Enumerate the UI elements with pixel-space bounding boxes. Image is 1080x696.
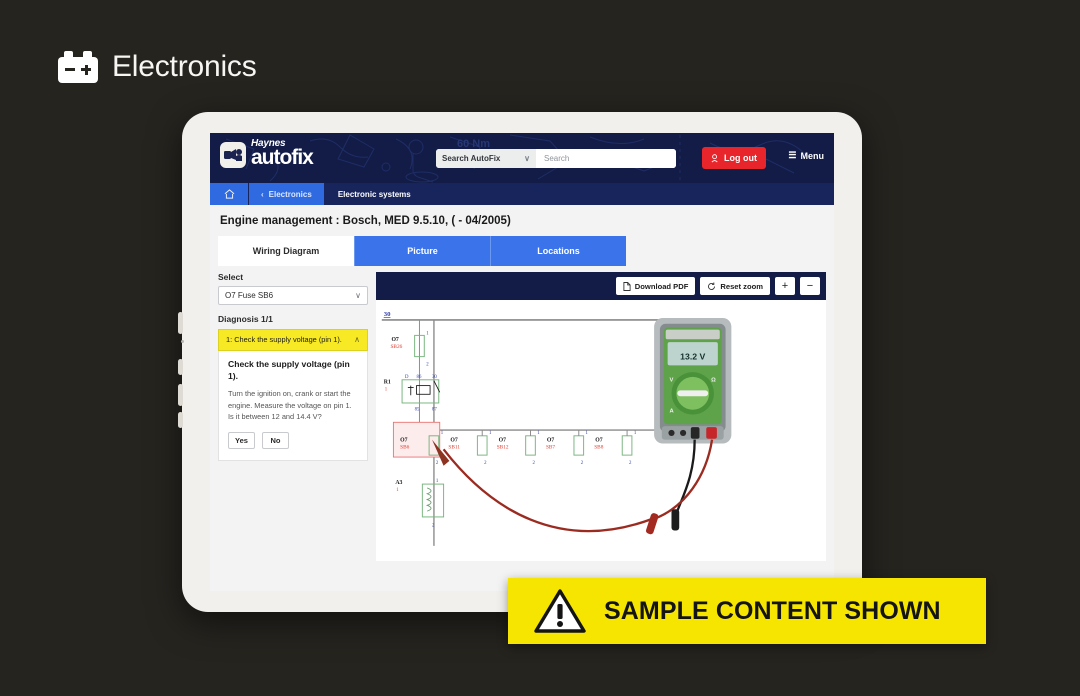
svg-text:1: 1 [586,431,589,436]
multimeter: 13.2 V V Ω A [645,318,731,535]
logo-autofix-text: autofix [251,148,313,167]
diagram-viewer: Download PDF Reset zoom + − [376,272,826,561]
home-icon [224,189,235,199]
tab-wiring-diagram[interactable]: Wiring Diagram [218,236,354,266]
tablet-indicator-dot [181,340,184,343]
brand-title: Electronics [112,50,257,84]
left-panel: Select O7 Fuse SB6 ∨ Diagnosis 1/1 1: Ch… [218,272,368,561]
no-button[interactable]: No [262,432,289,449]
chevron-up-icon: ∧ [354,335,360,344]
svg-text:SB7: SB7 [546,444,555,450]
svg-text:A3: A3 [395,480,402,486]
autofix-logo[interactable]: Haynes autofix [220,139,313,168]
svg-text:2: 2 [532,461,535,466]
download-pdf-button[interactable]: Download PDF [616,277,696,295]
svg-text:O7: O7 [450,438,457,444]
svg-text:2: 2 [436,461,439,466]
svg-text:2: 2 [426,362,429,367]
svg-text:1: 1 [396,488,399,493]
step-instructions: Turn the ignition on, crank or start the… [228,388,358,422]
svg-text:O7: O7 [391,337,398,343]
svg-text:O7: O7 [499,438,506,444]
breadcrumb-back-electronics[interactable]: ‹ Electronics [248,183,324,205]
logout-label: Log out [724,153,757,163]
page-body: Engine management : Bosch, MED 9.5.10, (… [210,205,834,591]
svg-text:1: 1 [441,431,444,436]
tablet-screen: 60 Nm Haynes autofix [210,133,834,591]
search-scope-select[interactable]: Search AutoFix ∨ [436,149,536,168]
screenshot-root: Electronics [0,0,1080,696]
svg-text:SB12: SB12 [497,444,509,450]
tab-bar: Wiring Diagram Picture Locations [218,236,826,266]
fuse-select[interactable]: O7 Fuse SB6 ∨ [218,286,368,305]
chevron-left-icon: ‹ [261,190,264,199]
svg-text:85: 85 [415,408,420,413]
svg-text:2: 2 [484,461,487,466]
hamburger-icon: ☰ [788,150,796,161]
zoom-out-button[interactable]: − [800,277,820,295]
multimeter-display: 13.2 V [680,352,705,362]
download-pdf-label: Download PDF [635,282,689,291]
breadcrumb-current: Electronic systems [324,183,425,205]
page-title: Engine management : Bosch, MED 9.5.10, (… [218,215,826,227]
svg-text:87: 87 [432,408,437,413]
svg-text:1: 1 [426,331,429,336]
svg-text:R1: R1 [384,380,391,386]
breadcrumb-back-label: Electronics [269,190,312,199]
search-scope-value: Search AutoFix [442,154,500,163]
svg-text:2: 2 [629,461,632,466]
menu-button[interactable]: ☰ Menu [788,150,824,161]
svg-text:SB26: SB26 [390,344,402,350]
svg-text:1: 1 [385,387,388,392]
breadcrumb-current-label: Electronic systems [338,190,411,199]
warning-triangle-icon [534,588,586,634]
diagnosis-accordion-header[interactable]: 1: Check the supply voltage (pin 1). ∧ [218,329,368,351]
refresh-icon [707,282,716,291]
viewer-toolbar: Download PDF Reset zoom + − [376,272,826,300]
menu-label: Menu [801,151,825,161]
app-header: 60 Nm Haynes autofix [210,133,834,183]
svg-text:30: 30 [432,375,437,380]
svg-text:V: V [670,378,674,384]
svg-text:SB8: SB8 [594,444,603,450]
sample-banner-text: SAMPLE CONTENT SHOWN [604,597,941,626]
svg-text:O7: O7 [400,438,407,444]
diagram-rail-label: 30 [384,311,391,318]
zoom-in-button[interactable]: + [775,277,795,295]
tablet-device: 60 Nm Haynes autofix [182,112,862,612]
svg-text:86: 86 [417,375,422,380]
diagnosis-accordion-body: Check the supply voltage (pin 1). Turn t… [218,351,368,461]
chevron-down-icon: ∨ [355,291,361,300]
document-icon [623,282,631,291]
tablet-side-button[interactable] [178,384,183,406]
svg-text:1: 1 [634,431,637,436]
svg-text:O7: O7 [595,438,602,444]
diagnosis-heading: Diagnosis 1/1 [218,314,368,324]
accordion-summary: 1: Check the supply voltage (pin 1). [226,335,342,345]
svg-text:1: 1 [537,431,540,436]
reset-zoom-label: Reset zoom [720,282,763,291]
sample-content-banner: SAMPLE CONTENT SHOWN [508,578,986,644]
tablet-side-button[interactable] [178,312,183,334]
svg-text:O7: O7 [547,438,554,444]
breadcrumb: ‹ Electronics Electronic systems [210,183,834,205]
battery-icon [58,51,98,83]
mechanic-icon [224,146,243,163]
tab-picture[interactable]: Picture [354,236,490,266]
logout-button[interactable]: Log out [702,147,766,169]
breadcrumb-home-button[interactable] [210,183,248,205]
svg-text:D: D [405,375,409,380]
select-label: Select [218,272,368,282]
yes-button[interactable]: Yes [228,432,255,449]
chevron-down-icon: ∨ [524,154,530,163]
content-area: Select O7 Fuse SB6 ∨ Diagnosis 1/1 1: Ch… [218,272,826,561]
wiring-diagram-canvas[interactable]: 30 O7 SB26 1 2 [376,300,826,561]
svg-text:SB6: SB6 [400,444,409,450]
fuse-select-value: O7 Fuse SB6 [225,291,273,300]
svg-text:Ω: Ω [711,378,716,384]
svg-text:1: 1 [489,431,492,436]
svg-text:1: 1 [436,479,439,484]
step-title: Check the supply voltage (pin 1). [228,359,358,382]
answer-buttons: Yes No [228,432,358,449]
brand-header: Electronics [58,50,257,84]
search-input[interactable] [536,149,676,168]
tab-locations[interactable]: Locations [490,236,626,266]
tablet-side-button[interactable] [178,412,183,428]
svg-text:2: 2 [581,461,584,466]
svg-text:SB11: SB11 [448,444,460,450]
search-bar: Search AutoFix ∨ [436,149,676,168]
wiring-diagram-svg: 30 O7 SB26 1 2 [376,300,826,561]
tablet-side-button[interactable] [178,359,183,375]
user-icon [711,154,720,163]
logo-badge-icon [220,142,246,168]
reset-zoom-button[interactable]: Reset zoom [700,277,770,295]
